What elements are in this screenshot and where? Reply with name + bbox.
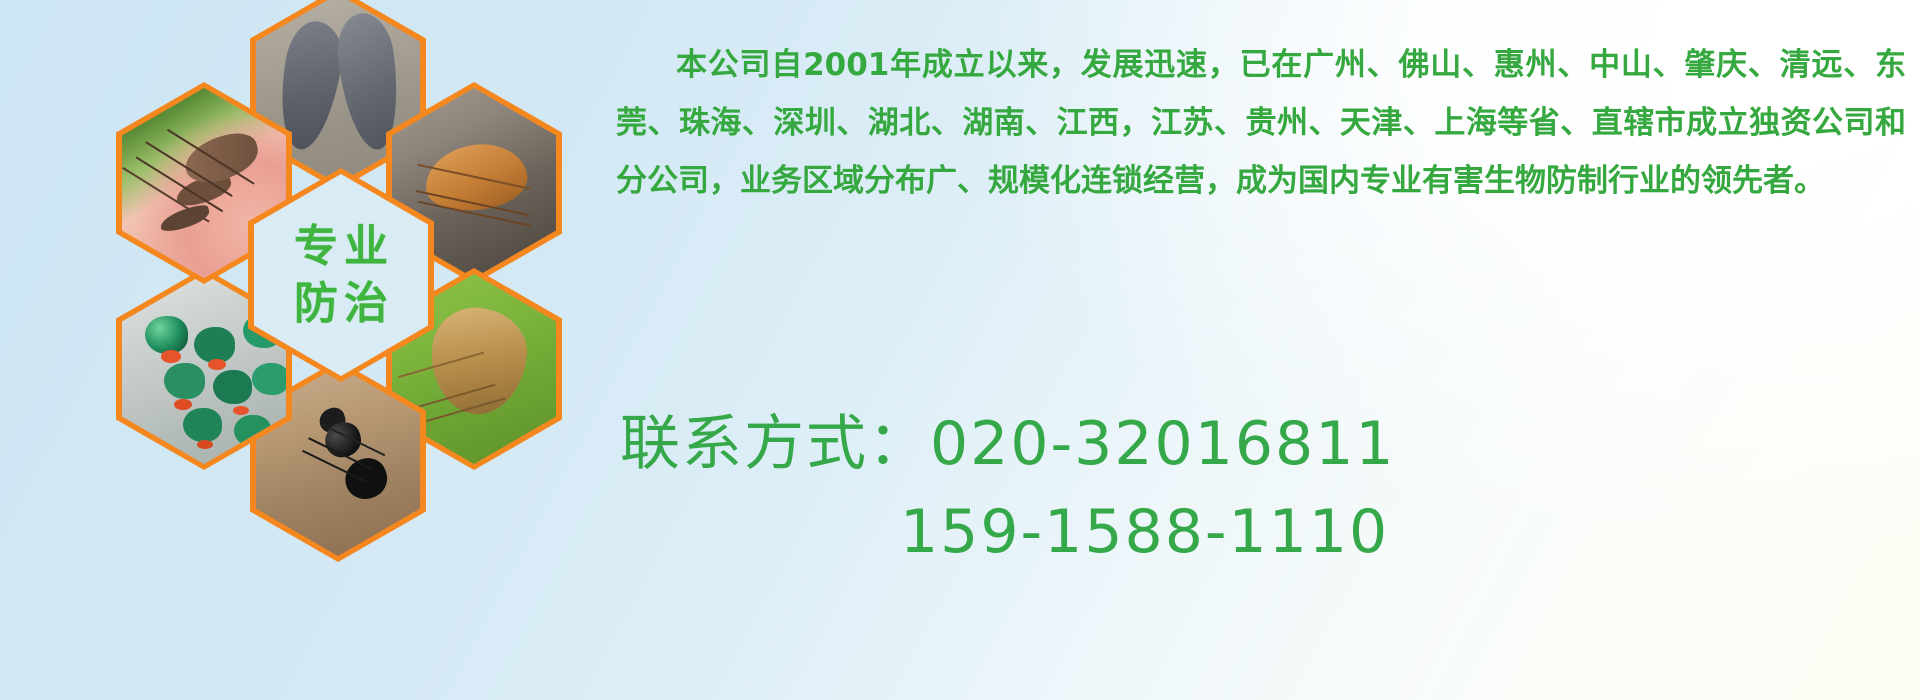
intro-paragraph: 本公司自2001年成立以来，发展迅速，已在广州、佛山、惠州、中山、肇庆、清远、东… [616, 36, 1906, 210]
hexagon-photo-cluster: 专业 防治 [86, 0, 586, 560]
contact-line-secondary[interactable]: 159-1588-1110 [620, 488, 1920, 576]
hex-center-frame [254, 174, 428, 376]
contact-line-primary[interactable]: 联系方式：020-32016811 [620, 400, 1920, 488]
intro-copy-block: 本公司自2001年成立以来，发展迅速，已在广州、佛山、惠州、中山、肇庆、清远、东… [616, 36, 1906, 210]
promo-banner: 专业 防治 本公司自2001年成立以来，发展迅速，已在广州、佛山、惠州、中山、肇… [0, 0, 1920, 700]
contact-block: 联系方式：020-32016811 159-1588-1110 [620, 400, 1920, 576]
